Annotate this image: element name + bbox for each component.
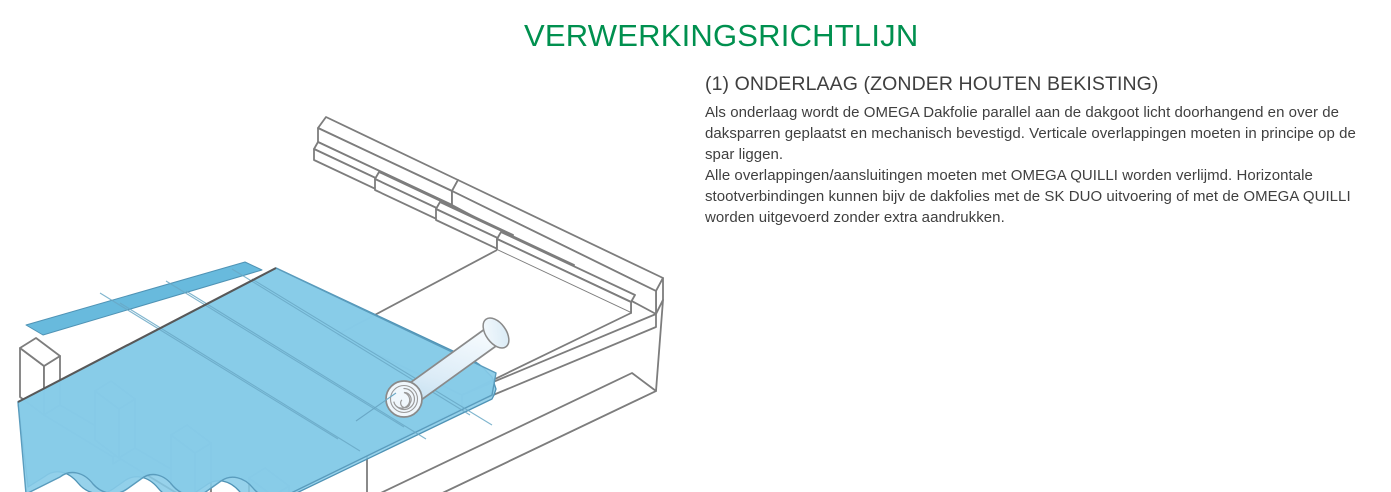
roof-underlay-illustration bbox=[0, 95, 700, 492]
roll-spiral-end bbox=[386, 381, 422, 417]
instruction-text-column: (1) ONDERLAAG (ZONDER HOUTEN BEKISTING) … bbox=[705, 72, 1385, 228]
section-paragraph-2: Alle overlappingen/aansluitingen moeten … bbox=[705, 165, 1385, 228]
section-paragraph-1: Als onderlaag wordt de OMEGA Dakfolie pa… bbox=[705, 102, 1385, 165]
page-title: VERWERKINGSRICHTLIJN bbox=[524, 18, 918, 54]
page-canvas: VERWERKINGSRICHTLIJN (1) ONDERLAAG (ZOND… bbox=[0, 0, 1391, 492]
section-heading: (1) ONDERLAAG (ZONDER HOUTEN BEKISTING) bbox=[705, 72, 1385, 96]
